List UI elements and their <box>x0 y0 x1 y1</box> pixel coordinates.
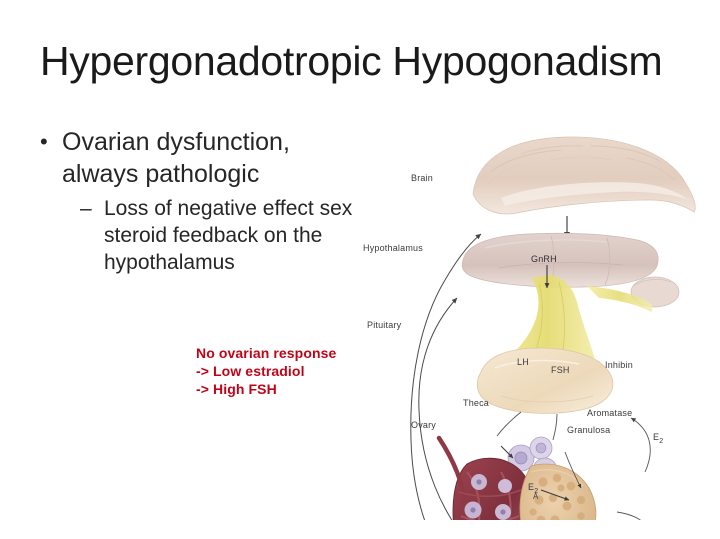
pituitary-illustration <box>477 275 652 413</box>
hpo-axis-diagram: Brain Hypothalamus Pituitary Ovary GnRH … <box>355 120 720 520</box>
callout-line-3: -> High FSH <box>196 380 336 398</box>
estradiol-bottom-subscript: 2 <box>534 488 538 495</box>
label-inhibin: Inhibin <box>605 360 633 370</box>
brain-illustration <box>473 137 695 214</box>
bullet-item-primary: • Ovarian dysfunction, always pathologic <box>36 126 366 190</box>
label-brain: Brain <box>411 173 433 183</box>
label-hypothalamus: Hypothalamus <box>363 243 423 253</box>
label-aromatase: Aromatase <box>587 408 632 418</box>
diagram-illustration <box>355 120 720 520</box>
bullet-item-primary-label: Ovarian dysfunction, always pathologic <box>62 128 290 188</box>
arrow-inhibin <box>631 418 650 472</box>
arrow-pituitary-to-lh <box>497 412 521 436</box>
page-title: Hypergonadotropic Hypogonadism <box>40 36 700 86</box>
label-estradiol-bottom: E2 <box>528 482 538 495</box>
slide-canvas: Hypergonadotropic Hypogonadism • Ovarian… <box>0 0 720 539</box>
label-estradiol-right: E2 <box>653 432 663 445</box>
bullet-list: • Ovarian dysfunction, always pathologic… <box>36 126 366 276</box>
label-gnrh: GnRH <box>531 254 557 264</box>
label-theca: Theca <box>463 398 489 408</box>
arrow-pituitary-to-fsh <box>553 414 557 440</box>
dash-marker-icon: – <box>80 195 92 222</box>
bullet-marker-icon: • <box>40 126 48 158</box>
label-granulosa: Granulosa <box>567 425 610 435</box>
bullet-item-secondary: – Loss of negative effect sex steroid fe… <box>80 195 366 276</box>
bullet-item-secondary-label: Loss of negative effect sex steroid feed… <box>104 197 352 274</box>
label-lh: LH <box>517 357 529 367</box>
label-ovary: Ovary <box>411 420 436 430</box>
callout-text-block: No ovarian response -> Low estradiol -> … <box>196 344 336 398</box>
arrow-e2-right-out <box>617 512 650 520</box>
callout-line-1: No ovarian response <box>196 344 336 362</box>
callout-line-2: -> Low estradiol <box>196 362 336 380</box>
label-pituitary: Pituitary <box>367 320 401 330</box>
label-fsh: FSH <box>551 365 570 375</box>
estradiol-right-subscript: 2 <box>659 438 663 445</box>
